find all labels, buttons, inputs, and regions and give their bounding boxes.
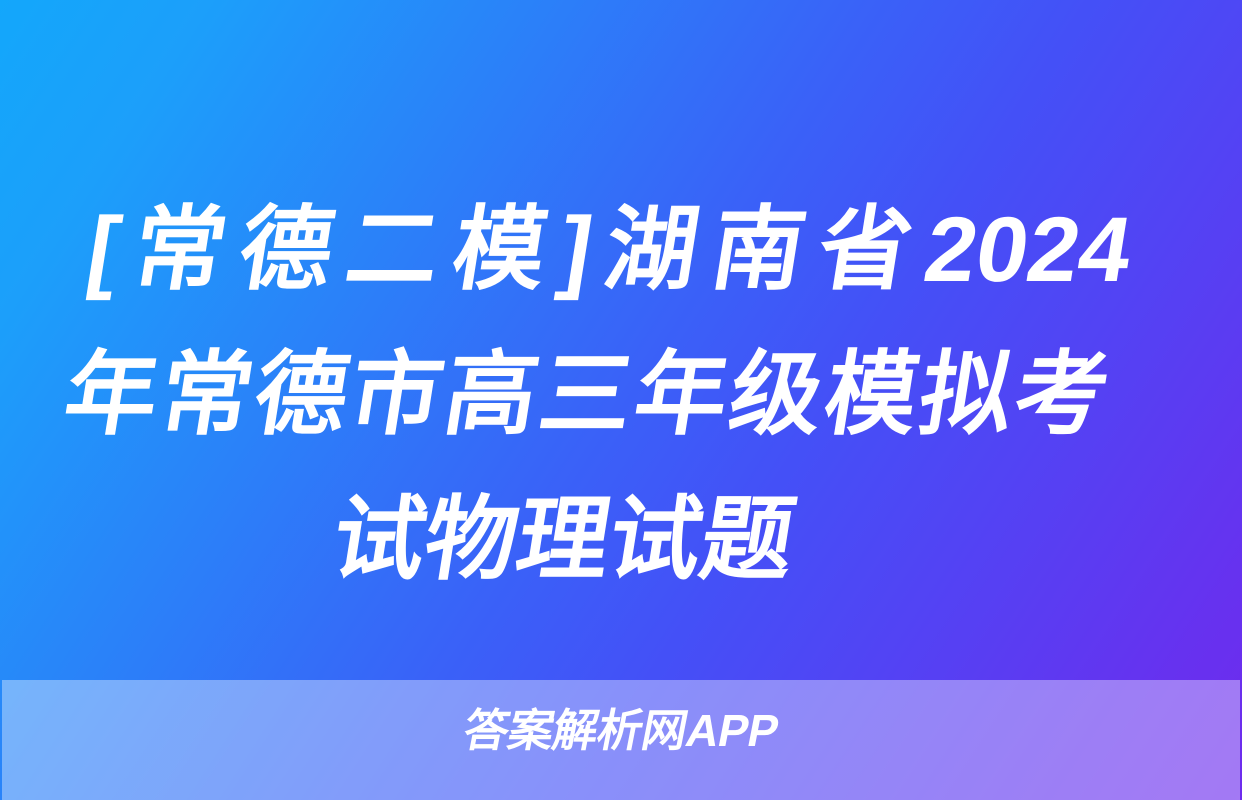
title-line-2: 年常德市高三年级模拟考 xyxy=(54,323,1119,468)
watermark-label: 答案解析网APP xyxy=(0,705,1242,757)
poster-title: [常德二模]湖南省2024 年常德市高三年级模拟考 试物理试题 xyxy=(31,178,1142,613)
title-line-1: [常德二模]湖南省2024 xyxy=(77,178,1142,323)
title-line-3: 试物理试题 xyxy=(31,468,1096,613)
poster-canvas: [常德二模]湖南省2024 年常德市高三年级模拟考 试物理试题 答案解析网APP xyxy=(0,0,1242,800)
